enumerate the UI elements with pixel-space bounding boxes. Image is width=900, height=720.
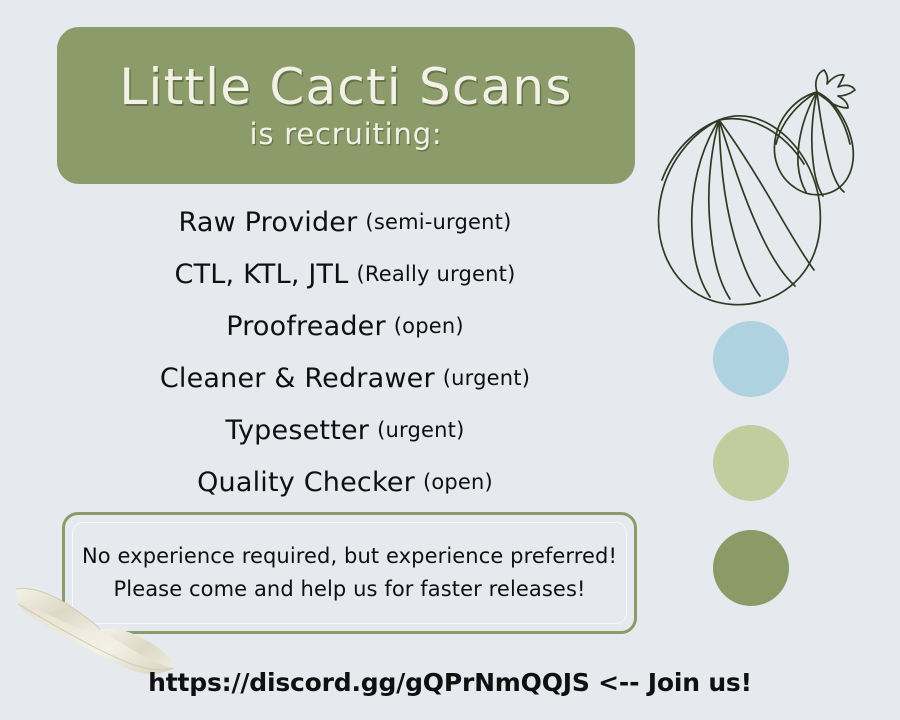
role-row: Raw Provider (semi-urgent) — [40, 196, 650, 248]
role-status: (urgent) — [443, 366, 530, 390]
role-status: (urgent) — [377, 418, 464, 442]
role-row: Cleaner & Redrawer (urgent) — [40, 352, 650, 404]
ribbon-decoration — [0, 560, 194, 685]
role-row: Quality Checker (open) — [40, 456, 650, 508]
palette-dot-pale-sage — [713, 425, 789, 501]
palette-dot-light-blue — [713, 321, 789, 397]
role-name: CTL, KTL, JTL — [175, 259, 349, 290]
role-row: Typesetter (urgent) — [40, 404, 650, 456]
palette-dot-olive-green — [713, 530, 789, 606]
role-name: Cleaner & Redrawer — [160, 363, 435, 394]
cactus-illustration — [648, 52, 876, 308]
role-name: Quality Checker — [197, 467, 415, 498]
role-status: (semi-urgent) — [365, 210, 511, 234]
role-status: (open) — [394, 314, 464, 338]
recruiting-subtitle: is recruiting: — [249, 119, 442, 151]
header-banner: Little Cacti Scans is recruiting: — [57, 27, 635, 184]
role-row: Proofreader (open) — [40, 300, 650, 352]
role-name: Proofreader — [226, 311, 386, 342]
page-title: Little Cacti Scans — [119, 61, 572, 113]
role-row: CTL, KTL, JTL (Really urgent) — [40, 248, 650, 300]
role-status: (open) — [423, 470, 493, 494]
role-status: (Really urgent) — [357, 262, 516, 286]
role-name: Typesetter — [226, 415, 370, 446]
discord-invite-link[interactable]: https://discord.gg/gQPrNmQQJS <-- Join u… — [0, 668, 900, 697]
recruitment-poster: Little Cacti Scans is recruiting: — [0, 0, 900, 720]
role-name: Raw Provider — [178, 207, 357, 238]
roles-list: Raw Provider (semi-urgent) CTL, KTL, JTL… — [40, 196, 650, 508]
